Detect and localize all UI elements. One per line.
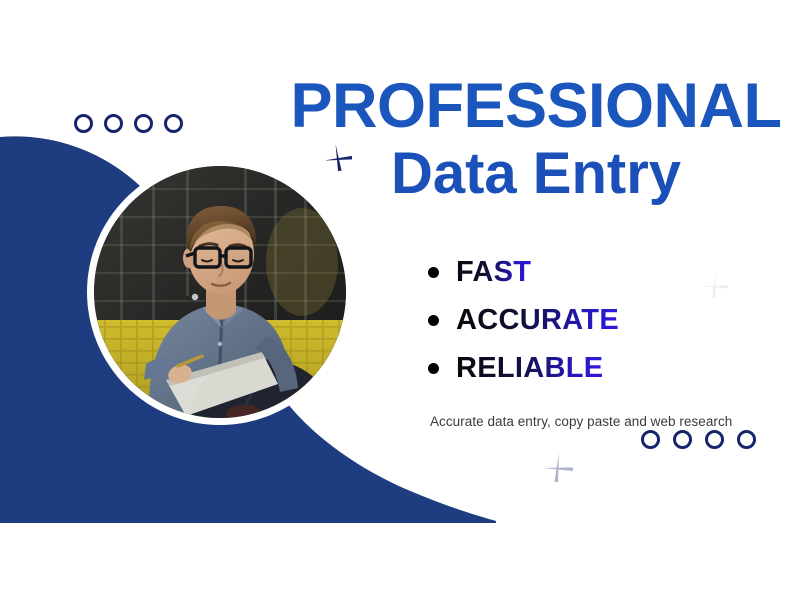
page-title-secondary: Data Entry (280, 142, 792, 207)
cross-icon-faint (697, 268, 733, 304)
feature-list: FAST ACCURATE RELIABLE (428, 248, 619, 392)
ring-icon (737, 430, 756, 449)
decorative-rings-top-left (74, 114, 183, 133)
ring-icon (104, 114, 123, 133)
tagline: Accurate data entry, copy paste and web … (430, 414, 732, 429)
bullet-icon (428, 363, 439, 374)
ring-icon (74, 114, 93, 133)
poster-canvas: PROFESSIONAL Data Entry FAST ACCURATE RE… (0, 0, 800, 600)
ring-icon (705, 430, 724, 449)
feature-label: ACCURATE (456, 304, 619, 337)
headline-block: PROFESSIONAL Data Entry (280, 74, 792, 207)
ring-icon (164, 114, 183, 133)
bullet-icon (428, 267, 439, 278)
list-item: RELIABLE (428, 344, 619, 392)
feature-label: FAST (456, 256, 531, 289)
list-item: FAST (428, 248, 619, 296)
cross-icon-light (539, 449, 577, 487)
list-item: ACCURATE (428, 296, 619, 344)
ring-icon (673, 430, 692, 449)
ring-icon (134, 114, 153, 133)
decorative-rings-bottom-right (641, 430, 756, 449)
ring-icon (641, 430, 660, 449)
bullet-icon (428, 315, 439, 326)
feature-label: RELIABLE (456, 352, 603, 385)
page-title-primary: PROFESSIONAL (280, 74, 792, 138)
